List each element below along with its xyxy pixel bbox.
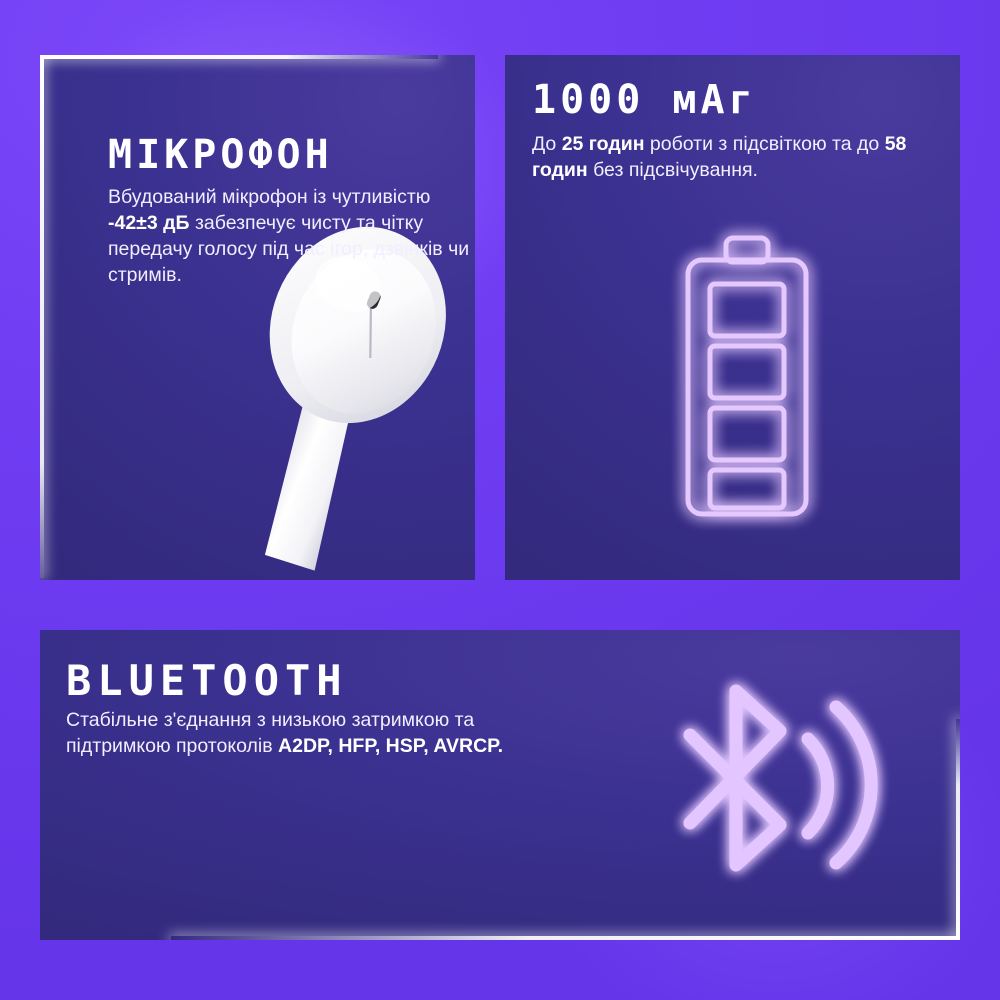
battery-neon-icon (672, 232, 822, 522)
battery-card-title: 1000 мАг (532, 80, 757, 120)
bluetooth-card-title: BLUETOOTH (66, 660, 348, 702)
card-edge-glow-left (40, 55, 44, 578)
mic-sensitivity-value: -42±3 дБ (108, 212, 190, 234)
bt-protocols-list: A2DP, HFP, HSP, AVRCP. (278, 735, 503, 757)
microphone-feature-card: МІКРОФОН Вбудований мікрофон із чутливіс… (40, 55, 475, 580)
bt-arc-inner (808, 739, 828, 833)
bluetooth-neon-icon (668, 665, 878, 900)
card-edge-glow-bottom (171, 936, 960, 940)
feature-cards-board: МІКРОФОН Вбудований мікрофон із чутливіс… (0, 0, 1000, 1000)
microphone-card-description: Вбудований мікрофон із чутливістю -42±3 … (108, 185, 475, 289)
batt-hours-backlight: 25 годин (562, 133, 645, 155)
batt-desc-text-2: роботи з підсвіткою та до (644, 133, 884, 155)
batt-desc-text-1: До (532, 133, 562, 155)
batt-desc-text-3: без підсвічування. (588, 159, 758, 181)
bluetooth-card-description: Стабільне з'єднання з низькою затримкою … (66, 708, 566, 760)
card-edge-glow-top (40, 55, 438, 59)
card-edge-glow-right (956, 719, 960, 940)
microphone-card-title: МІКРОФОН (108, 135, 333, 175)
mic-desc-text-1: Вбудований мікрофон із чутливістю (108, 186, 430, 208)
battery-card-description: До 25 годин роботи з підсвіткою та до 58… (532, 132, 912, 184)
bt-arc-outer (836, 707, 871, 863)
